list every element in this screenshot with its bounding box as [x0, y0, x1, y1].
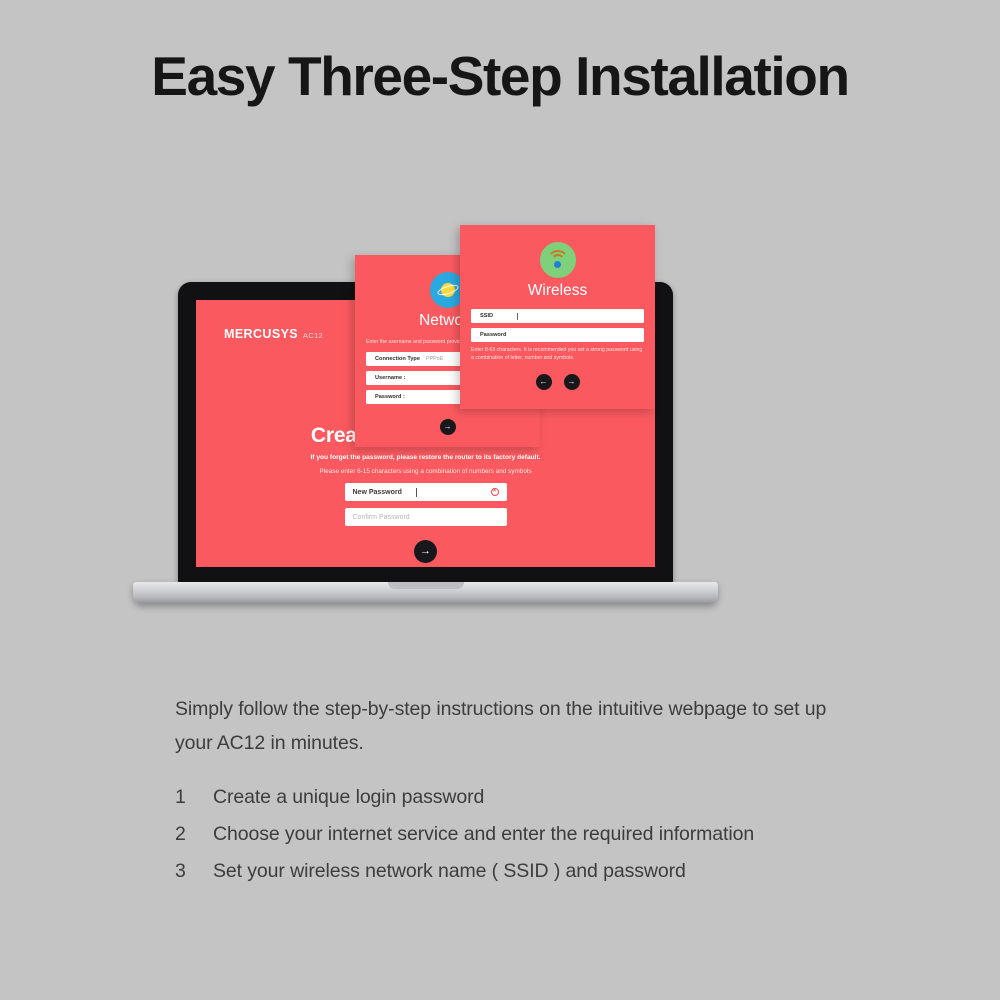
steps-list: 1 Create a unique login password 2 Choos… [175, 786, 855, 883]
connection-type-label: Connection Type [375, 356, 420, 362]
login-warning-text: If you forget the password, please resto… [196, 454, 655, 461]
body-copy: Simply follow the step-by-step instructi… [175, 693, 855, 897]
wireless-card-title: Wireless [460, 282, 655, 300]
wireless-password-field[interactable]: Password [471, 328, 644, 342]
confirm-password-label: Confirm Password [353, 514, 410, 521]
wifi-icon [540, 242, 576, 278]
login-hint-text: Please enter 6-15 characters using a com… [196, 468, 655, 475]
new-password-label: New Password [353, 489, 402, 496]
wireless-back-button[interactable]: ← [536, 374, 552, 390]
ssid-field[interactable]: SSID [471, 309, 644, 323]
wireless-step-card: Wireless SSID Password Enter 8-63 charac… [460, 225, 655, 409]
wireless-card-note: Enter 8-63 characters. It is recommended… [460, 347, 655, 363]
lede-paragraph: Simply follow the step-by-step instructi… [175, 693, 855, 760]
ssid-label: SSID [480, 313, 493, 319]
wireless-card-nav: ← → [460, 374, 655, 390]
brand-model: AC12 [303, 331, 323, 340]
step-text: Set your wireless network name ( SSID ) … [213, 860, 686, 883]
step-text: Choose your internet service and enter t… [213, 823, 754, 846]
new-password-input[interactable]: New Password ✕ [345, 483, 507, 501]
page-headline: Easy Three-Step Installation [0, 46, 1000, 107]
network-username-label: Username : [375, 375, 405, 381]
laptop-base-notch [388, 582, 464, 589]
network-next-button[interactable]: → [440, 419, 456, 435]
next-step-button[interactable]: → [414, 540, 437, 563]
wireless-next-button[interactable]: → [564, 374, 580, 390]
step-number: 2 [175, 823, 213, 846]
step-text: Create a unique login password [213, 786, 484, 809]
wireless-password-label: Password [480, 332, 506, 338]
step-number: 3 [175, 860, 213, 883]
list-item: 1 Create a unique login password [175, 786, 855, 809]
brand-logo: MERCUSYS AC12 [224, 327, 323, 341]
list-item: 3 Set your wireless network name ( SSID … [175, 860, 855, 883]
connection-type-value: PPPoE [426, 356, 443, 362]
wifi-dot [554, 261, 561, 268]
text-caret [517, 313, 518, 320]
network-card-nav: → [355, 419, 540, 435]
list-item: 2 Choose your internet service and enter… [175, 823, 855, 846]
hero-illustration: MERCUSYS AC12 Create Login Password If y… [0, 190, 1000, 640]
step-number: 1 [175, 786, 213, 809]
brand-name: MERCUSYS [224, 327, 298, 341]
text-caret [416, 488, 417, 497]
clear-icon[interactable]: ✕ [491, 488, 499, 496]
confirm-password-input[interactable]: Confirm Password [345, 508, 507, 526]
network-password-label: Password : [375, 394, 405, 400]
laptop-base [133, 582, 718, 604]
